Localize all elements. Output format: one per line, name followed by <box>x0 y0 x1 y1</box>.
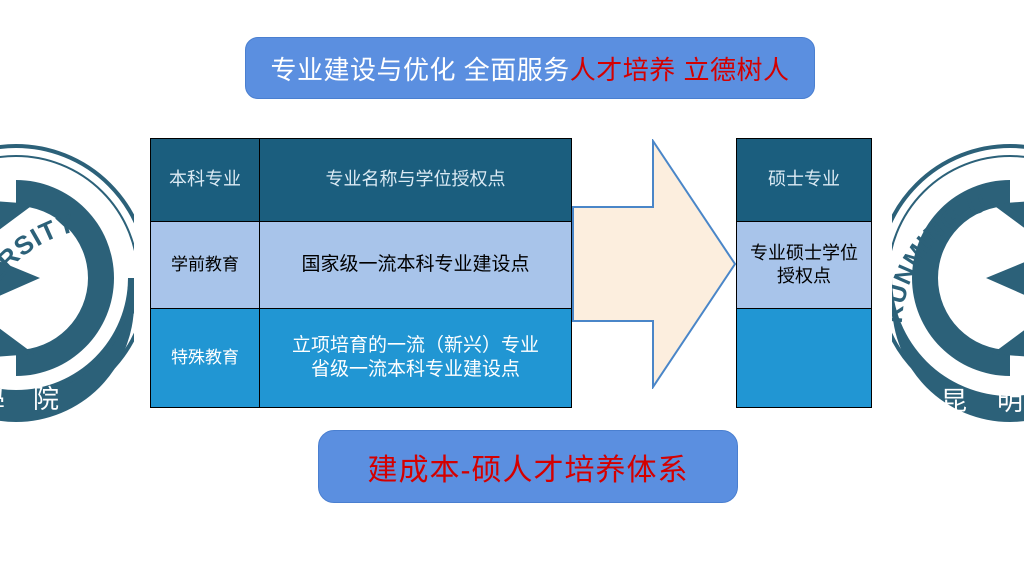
svg-text:明: 明 <box>997 387 1023 416</box>
top-banner-text-red: 人才培养 立德树人 <box>570 50 790 87</box>
svg-text:昆: 昆 <box>941 387 967 416</box>
svg-text:UNIVERSITY: UNIVERSITY <box>0 207 79 348</box>
left-table-row1-col2: 国家级一流本科专业建设点 <box>260 222 572 309</box>
svg-text:學: 學 <box>0 387 5 416</box>
left-table-row2-col2-line2: 省级一流本科专业建设点 <box>264 358 567 382</box>
table-row: 本科专业 专业名称与学位授权点 <box>151 139 572 222</box>
right-arrow <box>565 139 740 389</box>
svg-text:院: 院 <box>33 385 59 414</box>
left-table-row2-col1: 特殊教育 <box>151 309 260 408</box>
table-row: 硕士专业 <box>737 139 872 222</box>
bottom-banner-text: 建成本-硕人才培养体系 <box>368 445 689 489</box>
right-table-row1: 专业硕士学位 授权点 <box>737 222 872 309</box>
master-majors-table: 硕士专业 专业硕士学位 授权点 <box>736 138 872 408</box>
table-row <box>737 309 872 408</box>
right-table-row1-line2: 授权点 <box>741 265 867 288</box>
bottom-banner: 建成本-硕人才培养体系 <box>318 430 738 503</box>
right-table-row2 <box>737 309 872 408</box>
left-table-row2-col2-line1: 立项培育的一流（新兴）专业 <box>264 334 567 358</box>
left-table-row1-col1: 学前教育 <box>151 222 260 309</box>
undergraduate-majors-table: 本科专业 专业名称与学位授权点 学前教育 国家级一流本科专业建设点 特殊教育 立… <box>150 138 572 408</box>
table-row: 特殊教育 立项培育的一流（新兴）专业 省级一流本科专业建设点 <box>151 309 572 408</box>
left-table-row2-col2: 立项培育的一流（新兴）专业 省级一流本科专业建设点 <box>260 309 572 408</box>
university-emblem-left: UNIVERSITY 學 院 <box>0 118 134 430</box>
top-banner-text-white: 专业建设与优化 全面服务 <box>271 50 570 87</box>
left-table-row1-col2-line1: 国家级一流本科专业建设点 <box>264 253 567 277</box>
table-row: 专业硕士学位 授权点 <box>737 222 872 309</box>
left-table-header-col1: 本科专业 <box>151 139 260 222</box>
right-table-row1-line1: 专业硕士学位 <box>741 242 867 265</box>
table-row: 学前教育 国家级一流本科专业建设点 <box>151 222 572 309</box>
kunming-university-emblem-right: KUNMING U 昆 明 <box>892 118 1024 430</box>
right-table-header: 硕士专业 <box>737 139 872 222</box>
svg-text:KUNMING U: KUNMING U <box>892 189 991 325</box>
left-table-header-col2: 专业名称与学位授权点 <box>260 139 572 222</box>
top-banner: 专业建设与优化 全面服务 人才培养 立德树人 <box>245 37 815 99</box>
